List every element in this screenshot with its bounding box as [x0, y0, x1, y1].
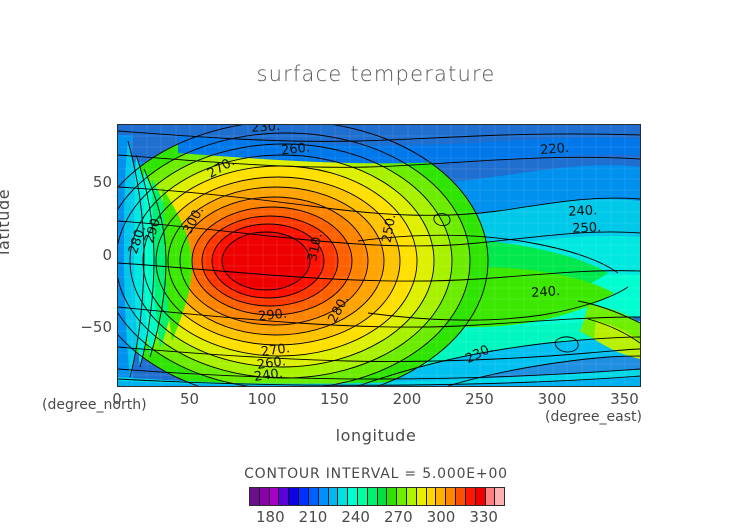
colorbar-cell — [347, 488, 357, 505]
colorbar-cell — [259, 488, 269, 505]
x-tick-300: 300 — [538, 390, 567, 408]
contour-label: 260. — [280, 141, 310, 159]
page-title: surface temperature — [0, 62, 752, 86]
x-tick-350: 350 — [610, 390, 639, 408]
contour-field: 230.260.270.220.240.250.280.290.300.310.… — [118, 125, 640, 386]
colorbar-cell — [377, 488, 387, 505]
colorbar-cell — [357, 488, 367, 505]
contour-label: 240. — [568, 203, 598, 219]
x-tick-250: 250 — [465, 390, 494, 408]
contour-label: 240. — [531, 284, 561, 301]
y-axis-unit: (degree_north) — [42, 397, 147, 413]
colorbar — [249, 487, 505, 506]
colorbar-cell — [308, 488, 318, 505]
colorbar-cell — [367, 488, 377, 505]
plot-canvas: surface temperature — [0, 0, 752, 532]
colorbar-cell — [396, 488, 406, 505]
colorbar-tick-180: 180 — [256, 508, 285, 526]
colorbar-cell — [494, 488, 504, 505]
x-axis-label: longitude — [0, 426, 752, 445]
colorbar-tick-300: 300 — [427, 508, 456, 526]
colorbar-cell — [485, 488, 495, 505]
colorbar-cell — [328, 488, 338, 505]
y-tick-50: 50 — [93, 173, 112, 191]
contour-label: 220. — [540, 141, 570, 158]
y-tick-0: 0 — [102, 246, 112, 264]
colorbar-cell — [288, 488, 298, 505]
colorbar-cell — [416, 488, 426, 505]
colorbar-ticks: 180210240270300330 — [249, 508, 505, 528]
colorbar-cell — [318, 488, 328, 505]
x-tick-50: 50 — [180, 390, 199, 408]
x-axis-unit: (degree_east) — [545, 409, 642, 425]
colorbar-cell — [250, 488, 259, 505]
colorbar-cell — [455, 488, 465, 505]
colorbar-tick-240: 240 — [341, 508, 370, 526]
colorbar-cell — [278, 488, 288, 505]
colorbar-tick-330: 330 — [469, 508, 498, 526]
contour-label: 250. — [572, 220, 602, 236]
y-axis-label: latitude — [0, 189, 13, 255]
contour-interval-caption: CONTOUR INTERVAL = 5.000E+00 — [0, 466, 752, 482]
contour-plot-area: 230.260.270.220.240.250.280.290.300.310.… — [117, 124, 641, 387]
contour-label: 290. — [257, 307, 287, 325]
x-tick-200: 200 — [393, 390, 422, 408]
colorbar-cell — [475, 488, 485, 505]
colorbar-cell — [269, 488, 279, 505]
colorbar-tick-270: 270 — [384, 508, 413, 526]
x-tick-100: 100 — [248, 390, 277, 408]
colorbar-cell — [337, 488, 347, 505]
colorbar-cell — [465, 488, 475, 505]
colorbar-cell — [406, 488, 416, 505]
colorbar-cell — [435, 488, 445, 505]
colorbar-tick-210: 210 — [299, 508, 328, 526]
x-tick-150: 150 — [320, 390, 349, 408]
colorbar-cell — [386, 488, 396, 505]
y-tick--50: −50 — [80, 318, 112, 336]
colorbar-cell — [298, 488, 308, 505]
colorbar-cell — [445, 488, 455, 505]
colorbar-cell — [426, 488, 436, 505]
